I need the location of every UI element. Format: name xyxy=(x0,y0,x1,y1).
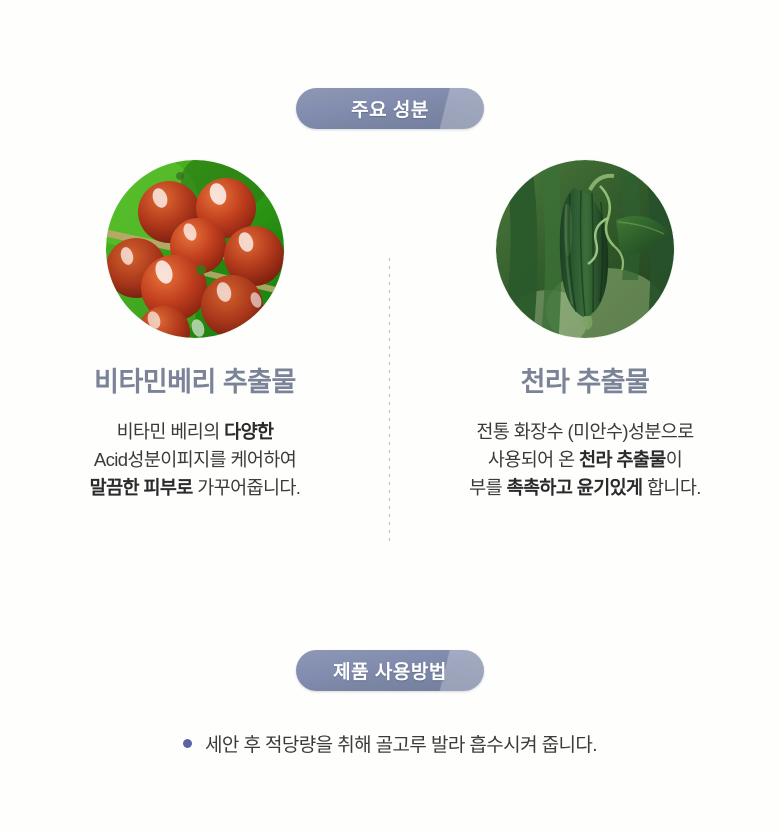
ingredient-description-vitamin-berry: 비타민 베리의 다양한Acid성분이피지를 케어하여말끔한 피부로 가꾸어줍니다… xyxy=(30,418,360,502)
ingredient-column-luffa: 천라 추출물 전통 화장수 (미안수)성분으로사용되어 온 천라 추출물이부를 … xyxy=(420,160,750,502)
vitamin-berry-photo xyxy=(106,160,284,338)
body-text: 합니다. xyxy=(642,477,700,498)
body-text: 이 xyxy=(666,449,682,470)
ingredient-title-vitamin-berry: 비타민베리 추출물 xyxy=(30,366,360,398)
column-divider xyxy=(389,258,390,541)
ingredient-column-vitamin-berry: 비타민베리 추출물 비타민 베리의 다양한Acid성분이피지를 케어하여말끔한 … xyxy=(30,160,360,502)
section-banner-ingredients: 주요 성분 xyxy=(296,88,484,129)
body-text: Acid성분이피지를 케어하여 xyxy=(94,449,296,470)
emphasis-text: 촉촉하고 윤기있게 xyxy=(507,477,643,498)
description-line: 사용되어 온 천라 추출물이 xyxy=(420,446,750,474)
section-banner-usage-label: 제품 사용방법 xyxy=(333,657,447,684)
emphasis-text: 천라 추출물 xyxy=(579,449,666,470)
description-line: 부를 촉촉하고 윤기있게 합니다. xyxy=(420,474,750,502)
description-line: Acid성분이피지를 케어하여 xyxy=(30,446,360,474)
bullet-icon xyxy=(183,739,192,748)
emphasis-text: 다양한 xyxy=(224,421,273,442)
luffa-photo xyxy=(496,160,674,338)
ingredient-description-luffa: 전통 화장수 (미안수)성분으로사용되어 온 천라 추출물이부를 촉촉하고 윤기… xyxy=(420,418,750,502)
product-detail-page: 주요 성분 xyxy=(0,0,780,832)
description-line: 비타민 베리의 다양한 xyxy=(30,418,360,446)
section-banner-ingredients-label: 주요 성분 xyxy=(351,95,429,122)
description-line: 전통 화장수 (미안수)성분으로 xyxy=(420,418,750,446)
ingredient-title-luffa: 천라 추출물 xyxy=(420,366,750,398)
usage-instruction-row: 세안 후 적당량을 취해 골고루 발라 흡수시켜 줍니다. xyxy=(0,730,780,757)
body-text: 부를 xyxy=(469,477,506,498)
body-text: 사용되어 온 xyxy=(488,449,579,470)
body-text: 비타민 베리의 xyxy=(117,421,225,442)
body-text: 전통 화장수 (미안수)성분으로 xyxy=(476,421,693,442)
description-line: 말끔한 피부로 가꾸어줍니다. xyxy=(30,474,360,502)
body-text: 가꾸어줍니다. xyxy=(193,477,301,498)
usage-instruction-text: 세안 후 적당량을 취해 골고루 발라 흡수시켜 줍니다. xyxy=(205,730,597,757)
emphasis-text: 말끔한 피부로 xyxy=(90,477,193,498)
section-banner-usage: 제품 사용방법 xyxy=(296,650,484,691)
